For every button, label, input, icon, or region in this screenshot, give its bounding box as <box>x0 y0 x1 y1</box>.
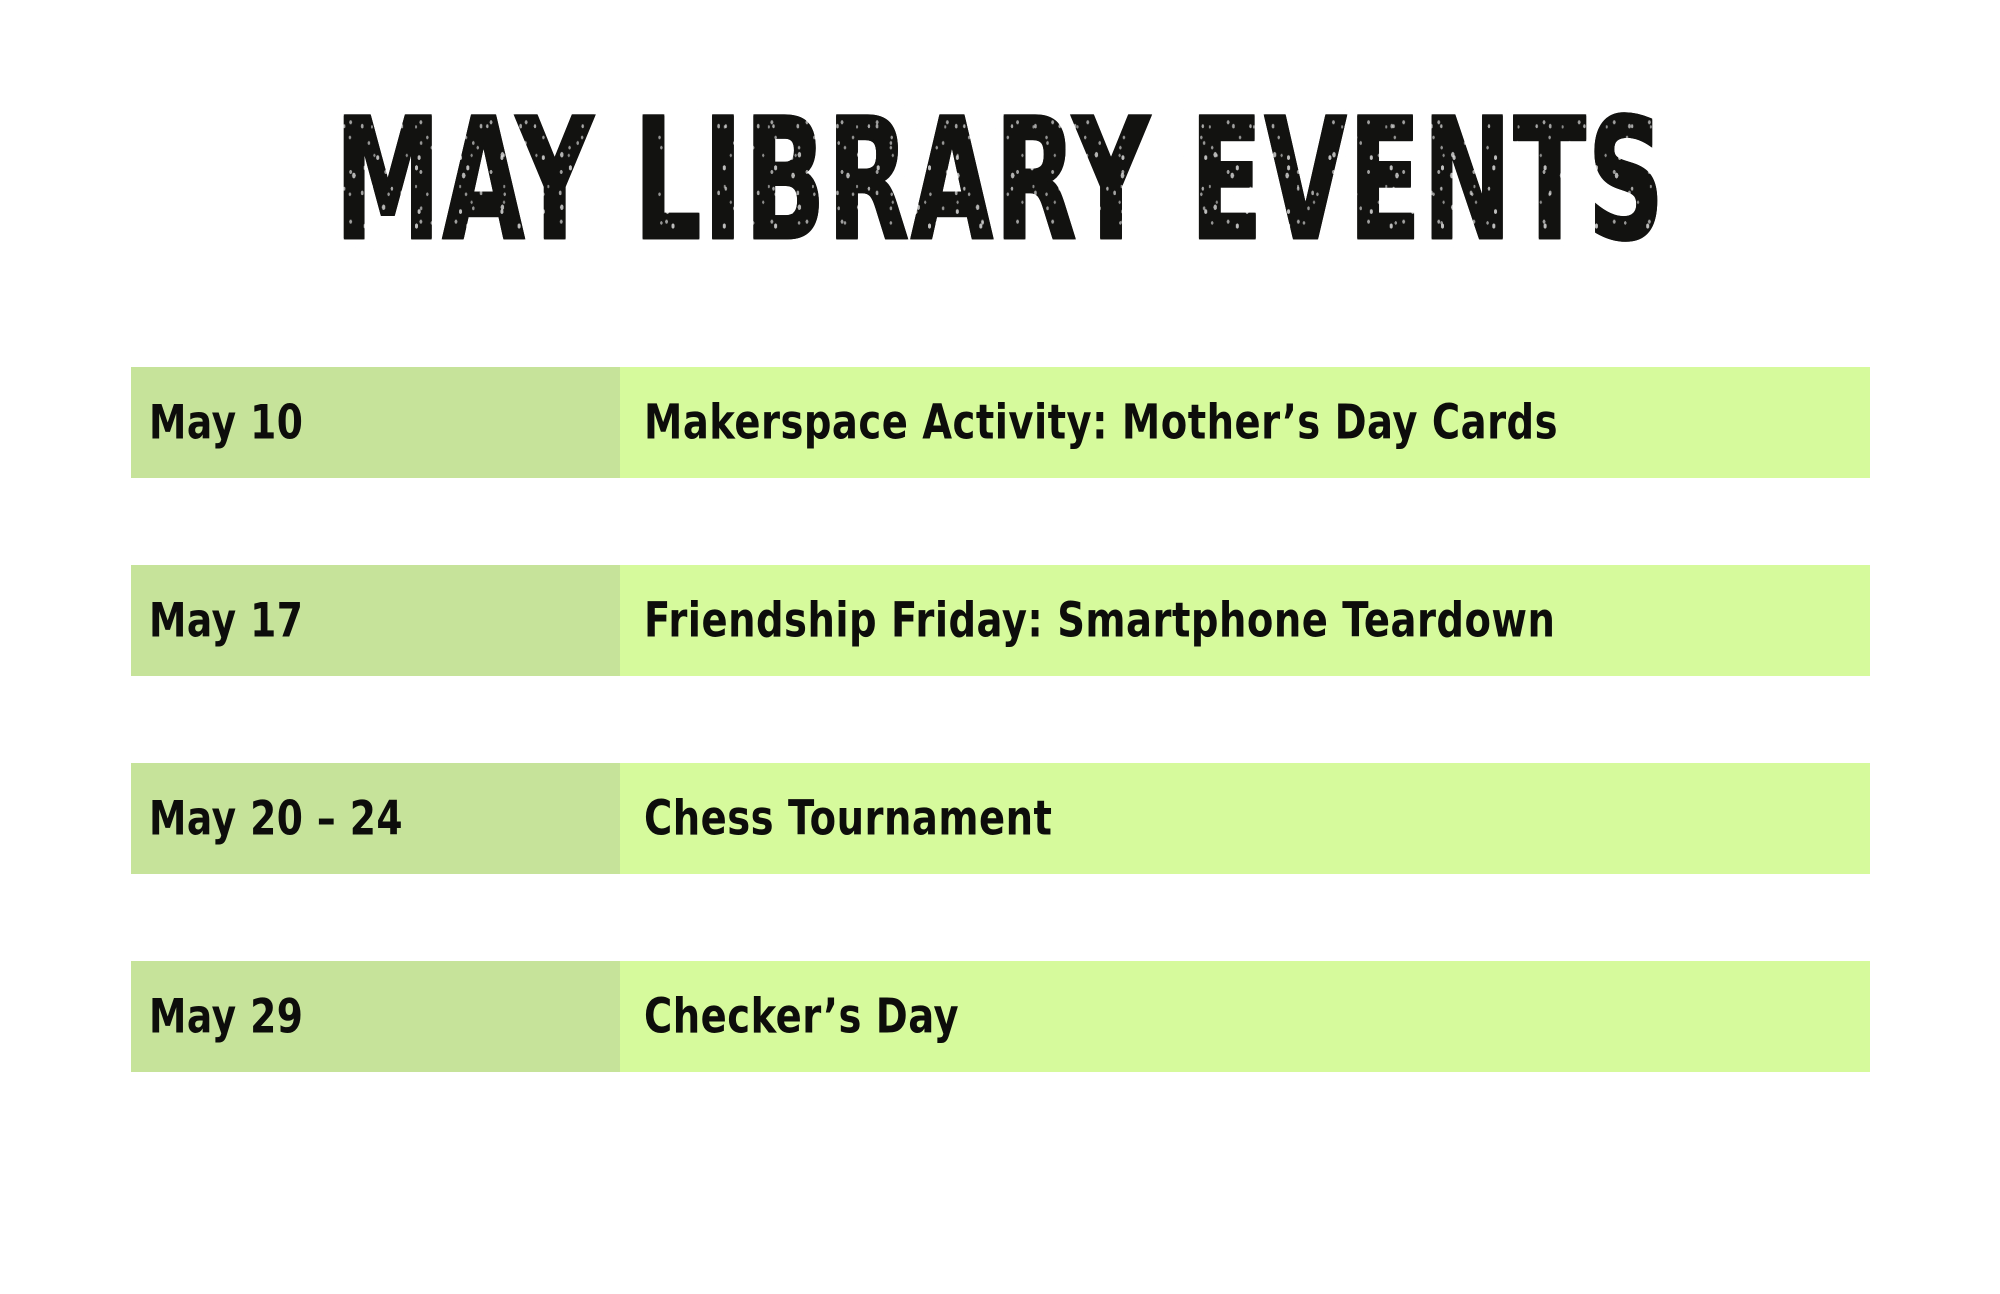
event-title-label: Makerspace Activity: Mother’s Day Cards <box>644 398 1558 446</box>
title-block: MAY LIBRARY EVENTS <box>0 96 2000 236</box>
event-title-label: Chess Tournament <box>644 794 1052 842</box>
events-table: May 10 Makerspace Activity: Mother’s Day… <box>131 367 1870 1072</box>
page-title: MAY LIBRARY EVENTS <box>334 96 1665 264</box>
event-date-label: May 20 – 24 <box>149 795 403 842</box>
event-date-cell: May 17 <box>131 565 620 676</box>
event-title-label: Friendship Friday: Smartphone Teardown <box>644 596 1555 644</box>
event-date-label: May 29 <box>149 993 303 1040</box>
table-row[interactable]: May 29 Checker’s Day <box>131 961 1870 1072</box>
table-row[interactable]: May 20 – 24 Chess Tournament <box>131 763 1870 874</box>
event-date-cell: May 10 <box>131 367 620 478</box>
poster-canvas: MAY LIBRARY EVENTS May 10 Makerspace Act… <box>0 0 2000 1294</box>
table-row[interactable]: May 10 Makerspace Activity: Mother’s Day… <box>131 367 1870 478</box>
event-title-label: Checker’s Day <box>644 992 959 1040</box>
event-date-label: May 10 <box>149 399 303 446</box>
table-row[interactable]: May 17 Friendship Friday: Smartphone Tea… <box>131 565 1870 676</box>
event-date-cell: May 29 <box>131 961 620 1072</box>
event-title-cell: Chess Tournament <box>620 763 1870 874</box>
event-title-cell: Makerspace Activity: Mother’s Day Cards <box>620 367 1870 478</box>
event-title-cell: Checker’s Day <box>620 961 1870 1072</box>
event-date-cell: May 20 – 24 <box>131 763 620 874</box>
event-date-label: May 17 <box>149 597 303 644</box>
event-title-cell: Friendship Friday: Smartphone Teardown <box>620 565 1870 676</box>
